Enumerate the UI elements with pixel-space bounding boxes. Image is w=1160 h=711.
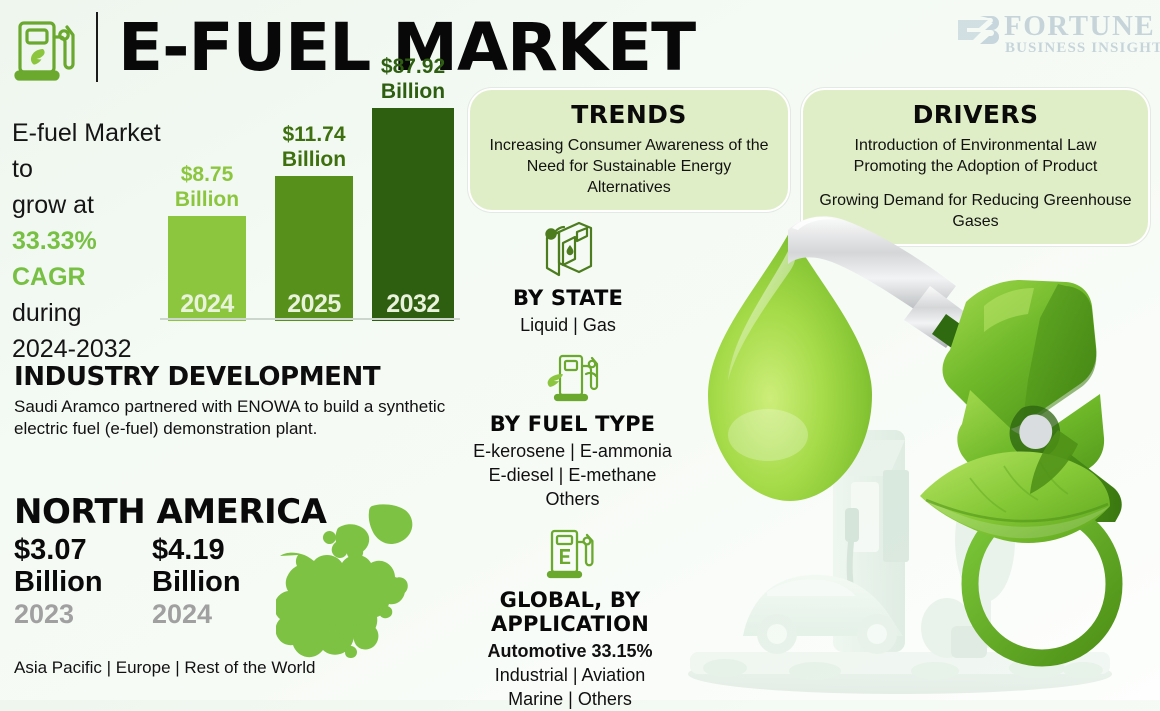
growth-statement: E-fuel Market to grow at 33.33% CAGR dur… — [12, 115, 172, 367]
bar-value-label: $87.92 Billion — [356, 54, 471, 104]
bar-rect: 2024 — [168, 216, 246, 321]
bar-rect: 2032 — [372, 108, 454, 321]
na-stat: $3.07 Billion 2023 — [14, 534, 103, 630]
growth-line-4: during — [12, 299, 82, 327]
na-stat-unit: Billion — [152, 566, 241, 598]
e-fuel-pump-icon — [542, 528, 598, 582]
cagr-value: 33.33% — [12, 227, 97, 255]
na-regions-list: Asia Pacific | Europe | Rest of the Worl… — [14, 658, 315, 678]
north-america-map-icon — [276, 498, 428, 658]
na-stat-year: 2024 — [152, 598, 241, 630]
bar-year-label: 2025 — [275, 290, 353, 319]
jerry-can-icon — [541, 218, 595, 280]
growth-line-1: E-fuel Market to — [12, 119, 161, 183]
growth-line-2: grow at — [12, 191, 94, 219]
bar-amount: $8.75 — [181, 163, 234, 186]
market-size-bar-chart: $8.75 Billion 2024 $11.74 Billion 2025 $… — [160, 105, 460, 325]
bar-rect: 2025 — [275, 176, 353, 321]
brand-logo: FORTUNE BUSINESS INSIGHTS — [956, 10, 1146, 60]
chart-baseline — [160, 318, 460, 320]
segment-line: Liquid | Gas — [452, 313, 684, 337]
brand-subtitle: BUSINESS INSIGHTS — [1005, 40, 1160, 57]
header: E-FUEL MARKET FORTUNE BUSINESS INSIGHTS — [0, 0, 1160, 92]
bar-column: $87.92 Billion 2032 — [372, 52, 454, 321]
na-stat-amount: $4.19 — [152, 534, 241, 566]
brand-name: FORTUNE — [1004, 10, 1155, 43]
infographic-root: E-FUEL MARKET FORTUNE BUSINESS INSIGHTS … — [0, 0, 1160, 700]
drivers-title: DRIVERS — [817, 100, 1134, 129]
header-divider — [96, 12, 98, 82]
industry-development-heading: INDUSTRY DEVELOPMENT — [14, 362, 380, 392]
bar-column: $11.74 Billion 2025 — [275, 120, 353, 321]
bar-amount: $11.74 — [282, 123, 345, 146]
cagr-label: CAGR — [12, 263, 86, 291]
bar-value-label: $8.75 Billion — [152, 162, 261, 212]
leaf-ring-icon — [900, 430, 1160, 680]
growth-period: 2024-2032 — [12, 335, 132, 363]
bar-value-label: $11.74 Billion — [259, 122, 368, 172]
fuel-nozzle-illustration — [660, 180, 1160, 700]
segment-by-state: BY STATE Liquid | Gas — [452, 218, 684, 337]
trends-title: TRENDS — [484, 100, 774, 129]
na-stat: $4.19 Billion 2024 — [152, 534, 241, 630]
bar-unit: Billion — [381, 80, 445, 103]
bar-column: $8.75 Billion 2024 — [168, 160, 246, 321]
bar-year-label: 2032 — [372, 290, 454, 319]
bar-unit: Billion — [175, 188, 239, 211]
bar-amount: $87.92 — [381, 55, 445, 78]
na-stat-amount: $3.07 — [14, 534, 103, 566]
bar-unit: Billion — [282, 148, 346, 171]
fuel-pump-leaf-icon — [12, 13, 78, 85]
drivers-text: Introduction of Environmental Law Promot… — [817, 135, 1134, 177]
fortune-bmark-icon — [956, 14, 1000, 54]
segment-title: BY STATE — [452, 286, 684, 310]
bar-year-label: 2024 — [168, 290, 246, 319]
na-stat-year: 2023 — [14, 598, 103, 630]
na-stat-unit: Billion — [14, 566, 103, 598]
industry-development-body: Saudi Aramco partnered with ENOWA to bui… — [14, 396, 454, 440]
fuel-pump-leaf-icon — [542, 352, 604, 406]
